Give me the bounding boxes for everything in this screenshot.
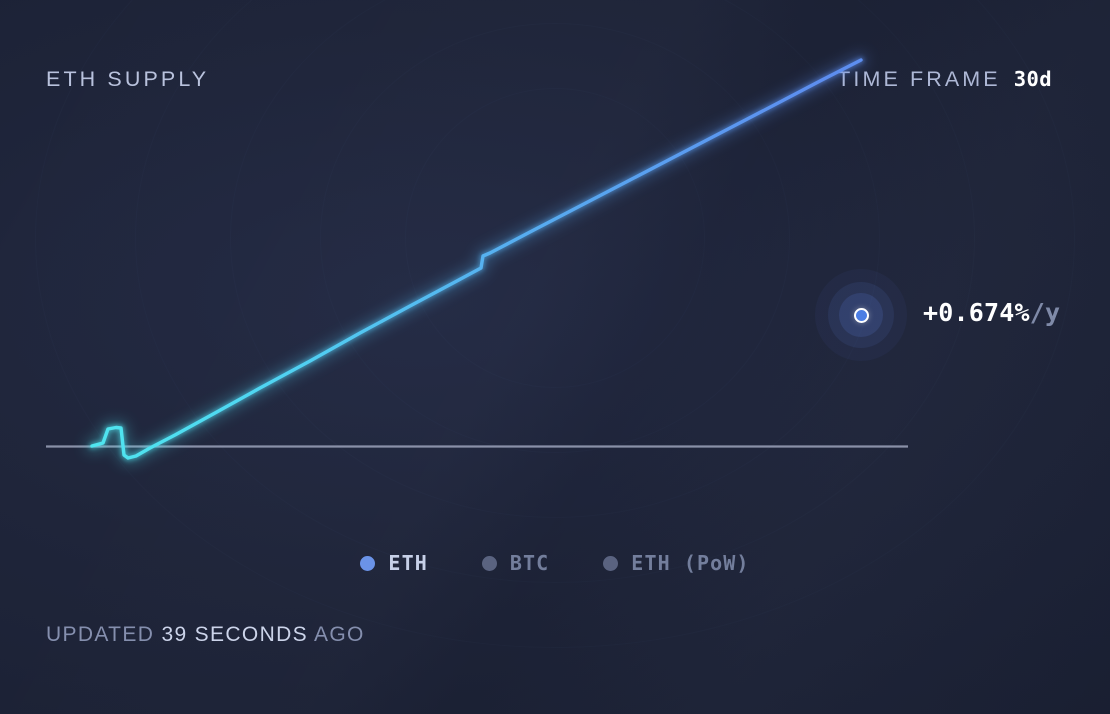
legend-item-btc[interactable]: BTC [482,551,549,575]
value-readout: +0.674%/y [923,298,1060,327]
legend-label-eth: ETH [388,551,427,575]
updated-prefix: UPDATED [46,623,154,646]
chart-legend: ETH BTC ETH (PoW) [0,551,1110,575]
supply-change-value: +0.674% [923,298,1030,327]
legend-item-eth-pow[interactable]: ETH (PoW) [603,551,749,575]
legend-item-eth[interactable]: ETH [360,551,427,575]
page-title: ETH SUPPLY [46,67,209,92]
latest-datapoint-marker[interactable] [854,308,869,323]
updated-status: UPDATED 39 SECONDS AGO [46,623,365,647]
widget-header: ETH SUPPLY TIME FRAME 30d [46,62,1052,96]
legend-label-eth-pow: ETH (PoW) [631,551,749,575]
legend-dot-icon [482,556,497,571]
chart-area[interactable]: +0.674%/y [0,110,1110,510]
legend-dot-icon [360,556,375,571]
supply-change-unit: /y [1030,298,1061,327]
timeframe-value[interactable]: 30d [1014,67,1052,91]
eth-supply-widget: ETH SUPPLY TIME FRAME 30d [0,0,1110,714]
timeframe-label: TIME FRAME [837,67,1001,92]
updated-suffix: AGO [314,623,365,646]
updated-elapsed-time: 39 SECONDS [161,623,308,646]
timeframe-selector[interactable]: TIME FRAME 30d [837,67,1052,92]
legend-label-btc: BTC [510,551,549,575]
legend-dot-icon [603,556,618,571]
